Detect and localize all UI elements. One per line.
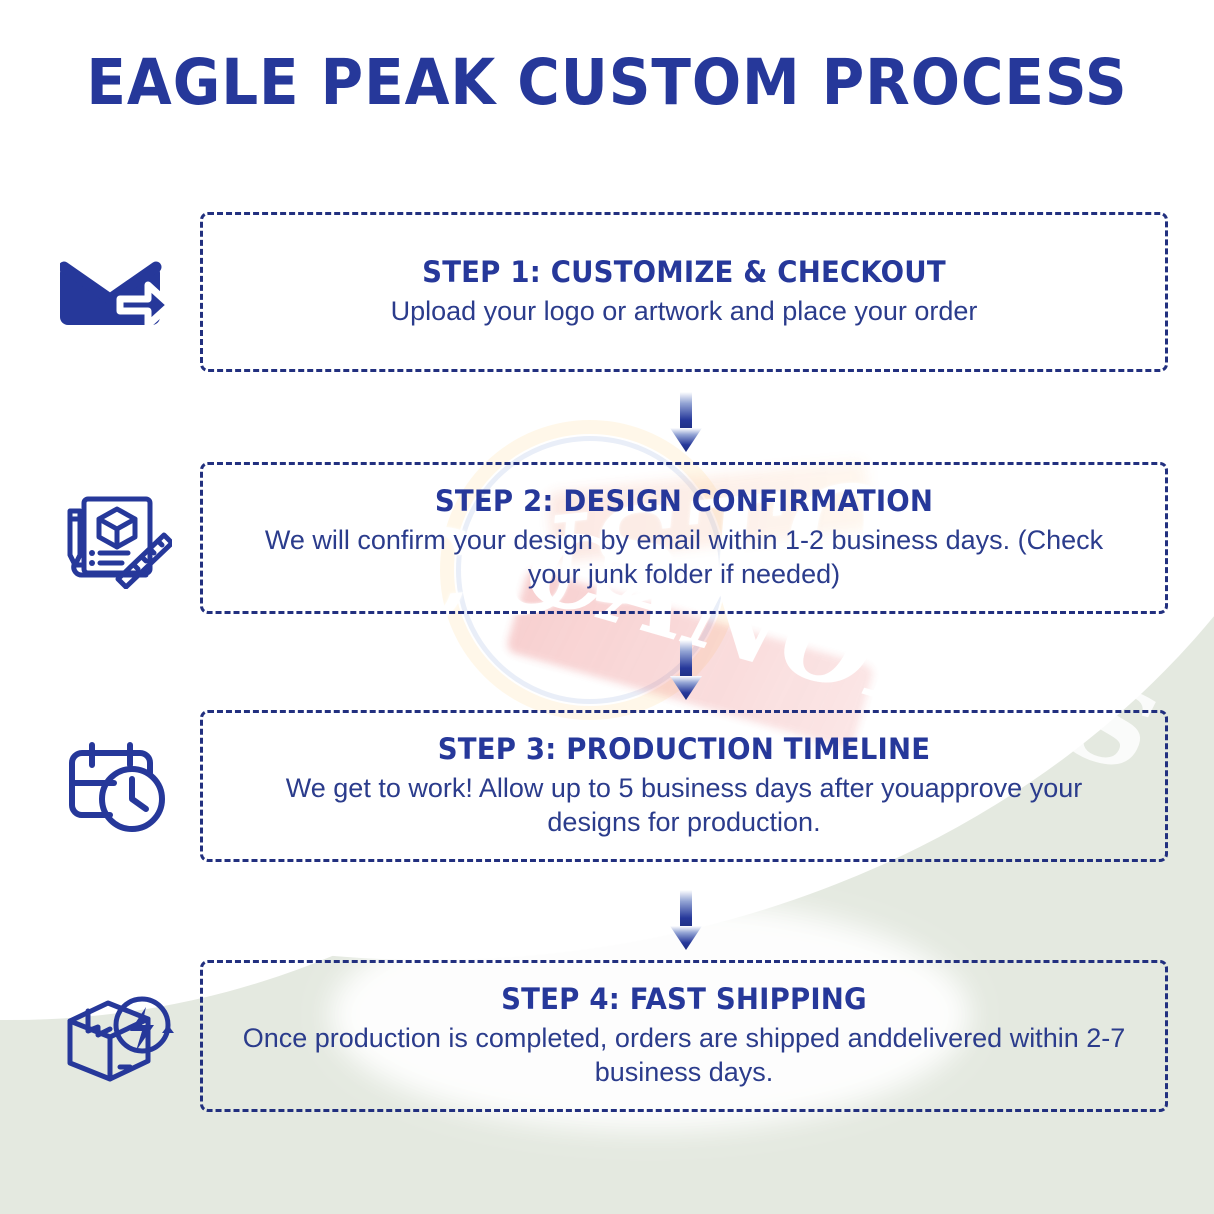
step-card-4[interactable]: STEP 4: FAST SHIPPING Once production is… xyxy=(200,960,1168,1112)
calendar-clock-icon xyxy=(58,732,178,842)
design-document-icon xyxy=(56,482,176,592)
step-card-1[interactable]: STEP 1: CUSTOMIZE & CHECKOUT Upload your… xyxy=(200,212,1168,372)
step-title-2: STEP 2: DESIGN CONFIRMATION xyxy=(227,484,1141,518)
step-body-1: Upload your logo or artwork and place yo… xyxy=(203,295,1165,329)
step-card-3[interactable]: STEP 3: PRODUCTION TIMELINE We get to wo… xyxy=(200,710,1168,862)
envelope-forward-icon xyxy=(56,238,176,348)
arrow-step3-to-step4 xyxy=(666,890,706,952)
page-title: EAGLE PEAK CUSTOM PROCESS xyxy=(49,46,1166,119)
step-body-3: We get to work! Allow up to 5 business d… xyxy=(203,772,1165,840)
shipping-box-fast-icon xyxy=(58,982,178,1092)
step-title-3: STEP 3: PRODUCTION TIMELINE xyxy=(227,732,1141,766)
arrow-step2-to-step3 xyxy=(666,640,706,702)
step-title-4: STEP 4: FAST SHIPPING xyxy=(227,982,1141,1016)
infographic-page: CUSTOM CANOPIES EAGLE PEAK CUSTOM PROCES… xyxy=(0,0,1214,1214)
arrow-step1-to-step2 xyxy=(666,392,706,454)
step-body-4: Once production is completed, orders are… xyxy=(203,1022,1165,1090)
step-card-2[interactable]: STEP 2: DESIGN CONFIRMATION We will conf… xyxy=(200,462,1168,614)
step-body-2: We will confirm your design by email wit… xyxy=(203,524,1165,592)
step-title-1: STEP 1: CUSTOMIZE & CHECKOUT xyxy=(227,255,1141,289)
